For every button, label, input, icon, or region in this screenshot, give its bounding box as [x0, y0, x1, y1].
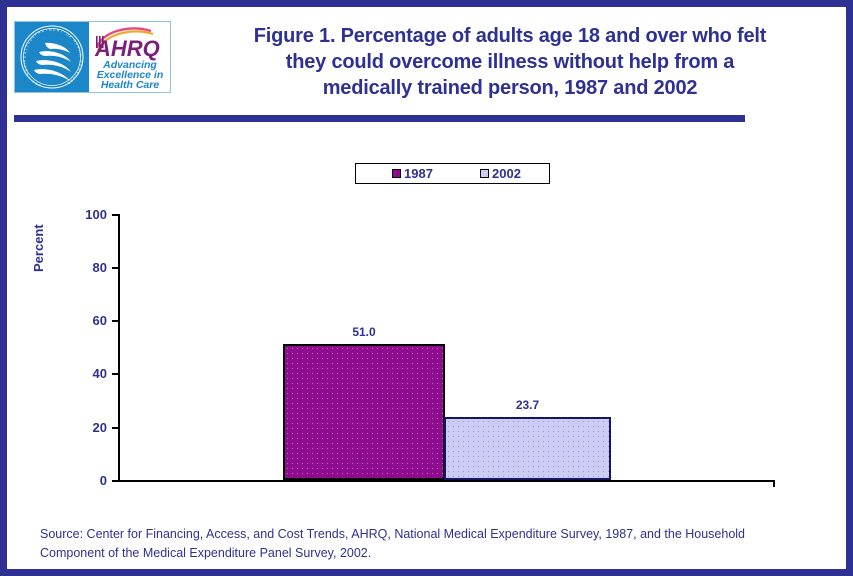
bar-value-label-2002: 23.7 [498, 399, 558, 411]
bar-1987 [283, 344, 445, 480]
bar-value-label-1987: 51.0 [334, 326, 394, 338]
figure-page: D E P A R T M E N T · O F H E [0, 0, 853, 576]
source-line-2: Component of the Medical Expenditure Pan… [40, 544, 810, 563]
bar-group [7, 7, 846, 480]
x-axis-line [118, 480, 775, 482]
source-note: Source: Center for Financing, Access, an… [40, 525, 810, 563]
x-axis-end-tick [773, 480, 775, 487]
bar-2002 [444, 417, 611, 480]
source-line-1: Source: Center for Financing, Access, an… [40, 525, 810, 544]
bar-chart: Percent 100 80 60 40 20 0 51.0 23.7 [7, 7, 846, 569]
